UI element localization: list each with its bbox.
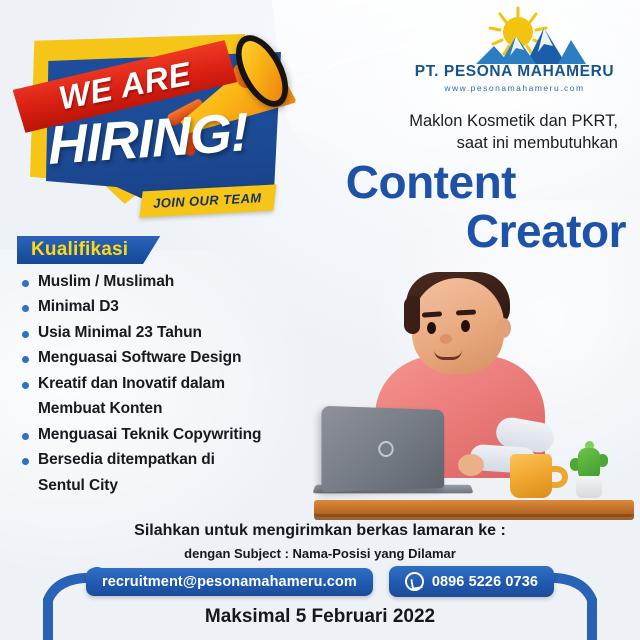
qualification-text: Bersedia ditempatkan di	[38, 450, 215, 470]
qualification-item: Bersedia ditempatkan di	[22, 450, 312, 470]
person-head	[412, 278, 504, 374]
person-eye-left	[427, 322, 436, 334]
apply-instruction: Silahkan untuk mengirimkan berkas lamara…	[0, 522, 640, 540]
person-hair-side	[404, 296, 420, 334]
phone-pill[interactable]: 0896 5226 0736	[389, 566, 554, 597]
application-deadline: Maksimal 5 Februari 2022	[0, 606, 640, 628]
bullet-icon	[22, 433, 29, 440]
qualification-item: Minimal D3	[22, 297, 312, 317]
qualifications-list: Muslim / MuslimahMinimal D3Usia Minimal …	[22, 272, 312, 501]
qualification-item: Kreatif dan Inovatif dalam	[22, 374, 312, 394]
qualification-item: Membuat Konten	[22, 399, 312, 419]
email-pill[interactable]: recruitment@pesonamahameru.com	[86, 568, 373, 596]
email-address: recruitment@pesonamahameru.com	[102, 574, 357, 590]
job-title-line-1: Content	[226, 158, 626, 207]
qualification-item: Menguasai Software Design	[22, 348, 312, 368]
whatsapp-icon	[405, 572, 424, 591]
qualification-text: Kreatif dan Inovatif dalam	[38, 374, 225, 394]
email-subject-note: dengan Subject : Nama-Posisi yang Dilama…	[0, 546, 640, 561]
company-logo-block: PT. PESONA MAHAMERU www.pesonamahameru.c…	[407, 6, 622, 93]
qualifications-heading: Kualifikasi	[31, 239, 128, 261]
desk-edge	[314, 514, 634, 520]
qualification-text: Menguasai Teknik Copywriting	[38, 425, 261, 445]
person-hand	[458, 454, 484, 476]
qualification-text: Minimal D3	[38, 297, 119, 317]
job-title-line-2: Creator	[226, 207, 626, 256]
qualification-text: Membuat Konten	[38, 399, 162, 419]
job-vacancy-poster: WE ARE HIRING! JOIN OUR TEAM	[0, 0, 640, 640]
tagline-line-1: Maklon Kosmetik dan PKRT,	[318, 110, 618, 132]
laptop-screen	[321, 406, 444, 492]
phone-number: 0896 5226 0736	[432, 574, 538, 590]
bullet-icon	[22, 331, 29, 338]
qualification-text: Menguasai Software Design	[38, 348, 241, 368]
job-title: Content Creator	[226, 158, 626, 256]
tagline: Maklon Kosmetik dan PKRT, saat ini membu…	[318, 110, 618, 155]
qualification-item: Sentul City	[22, 476, 312, 496]
company-website: www.pesonamahameru.com	[407, 83, 622, 93]
laptop-logo-icon	[378, 441, 393, 457]
bullet-icon	[22, 382, 29, 389]
bullet-spacer	[22, 484, 29, 491]
sun-mountain-logo-icon	[407, 6, 622, 66]
person-eye-right	[461, 320, 470, 332]
person-working-on-laptop-illustration	[300, 268, 640, 523]
bullet-icon	[22, 305, 29, 312]
qualification-text: Usia Minimal 23 Tahun	[38, 323, 202, 343]
qualification-text: Sentul City	[38, 476, 118, 496]
qualification-item: Usia Minimal 23 Tahun	[22, 323, 312, 343]
qualification-text: Muslim / Muslimah	[38, 272, 174, 292]
qualification-item: Menguasai Teknik Copywriting	[22, 425, 312, 445]
qualifications-banner: Kualifikasi	[17, 236, 160, 264]
person-eyebrow-right	[456, 309, 476, 315]
bullet-icon	[22, 458, 29, 465]
tagline-line-2: saat ini membutuhkan	[318, 132, 618, 154]
person-nose	[440, 334, 452, 344]
person-ear	[496, 318, 511, 338]
contact-row: recruitment@pesonamahameru.com 0896 5226…	[0, 566, 640, 597]
qualification-item: Muslim / Muslimah	[22, 272, 312, 292]
bullet-icon	[22, 356, 29, 363]
bullet-spacer	[22, 407, 29, 414]
coffee-mug	[510, 454, 552, 498]
plant-pot	[576, 476, 602, 498]
bullet-icon	[22, 280, 29, 287]
